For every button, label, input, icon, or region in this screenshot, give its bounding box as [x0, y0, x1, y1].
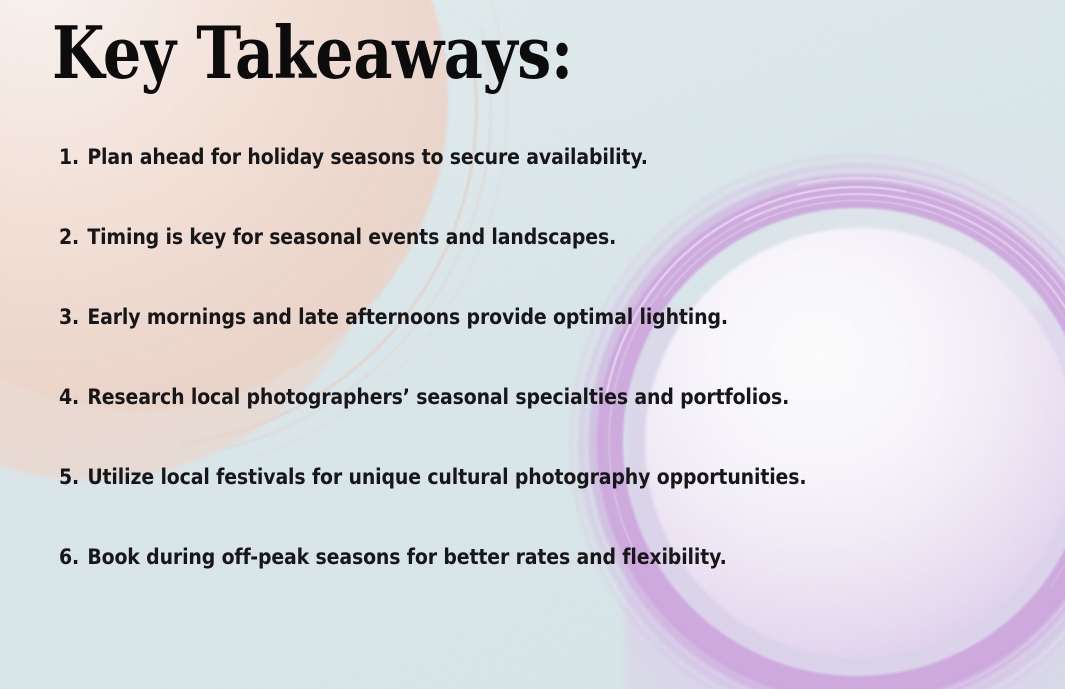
slide-content: Key Takeaways: 1. Plan ahead for holiday… — [0, 0, 1065, 689]
list-item: 4. Research local photographers’ seasona… — [59, 386, 923, 466]
list-item: 5. Utilize local festivals for unique cu… — [59, 466, 923, 546]
list-item-number: 4. — [59, 385, 79, 409]
list-item-number: 6. — [59, 545, 79, 569]
list-item-number: 2. — [59, 225, 79, 249]
takeaways-list: 1. Plan ahead for holiday seasons to sec… — [59, 146, 1019, 626]
page-title: Key Takeaways: — [52, 14, 573, 92]
list-item-text: Timing is key for seasonal events and la… — [87, 225, 616, 249]
list-item-number: 1. — [59, 145, 79, 169]
list-item: 2. Timing is key for seasonal events and… — [59, 226, 923, 306]
list-item-text: Utilize local festivals for unique cultu… — [87, 465, 806, 489]
list-item-text: Plan ahead for holiday seasons to secure… — [87, 145, 648, 169]
list-item-number: 5. — [59, 465, 79, 489]
list-item-text: Early mornings and late afternoons provi… — [87, 305, 728, 329]
list-item-text: Book during off-peak seasons for better … — [87, 545, 726, 569]
key-takeaways-slide: Key Takeaways: 1. Plan ahead for holiday… — [0, 0, 1065, 689]
list-item-text: Research local photographers’ seasonal s… — [87, 385, 789, 409]
list-item: 1. Plan ahead for holiday seasons to sec… — [59, 146, 923, 226]
list-item-number: 3. — [59, 305, 79, 329]
list-item: 6. Book during off-peak seasons for bett… — [59, 546, 923, 626]
list-item: 3. Early mornings and late afternoons pr… — [59, 306, 923, 386]
